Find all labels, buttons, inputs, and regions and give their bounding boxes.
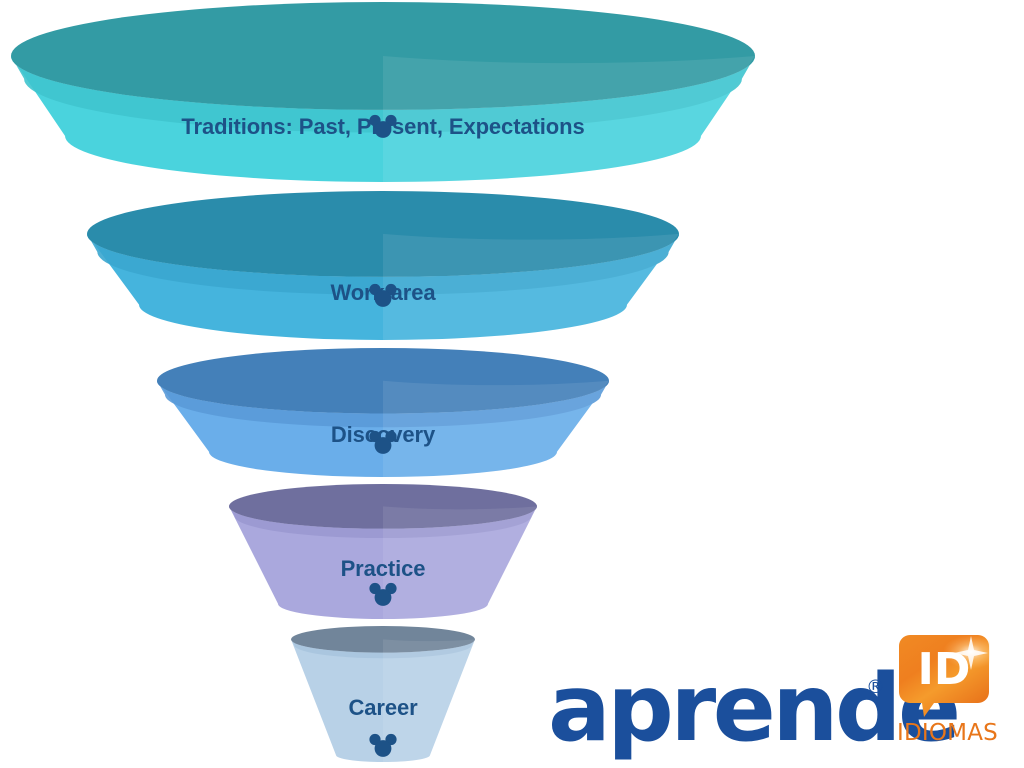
funnel-level-sheen — [383, 381, 609, 477]
funnel-level-2[interactable] — [87, 191, 679, 340]
funnel-level-sheen — [383, 234, 679, 340]
logo-subtitle: IDIOMAS — [897, 720, 993, 746]
mickey-mouse-head-icon — [368, 282, 398, 315]
mickey-mouse-head-icon — [368, 581, 398, 614]
funnel-diagram: Traditions: Past, Present, ExpectationsW… — [0, 0, 1024, 768]
funnel-level-sheen — [383, 506, 537, 619]
id-speech-bubble-icon: ID — [898, 634, 990, 718]
svg-text:ID: ID — [918, 644, 971, 695]
mickey-mouse-head-icon — [368, 733, 398, 766]
registered-trademark-icon: ® — [866, 676, 885, 698]
funnel-level-1[interactable] — [11, 2, 755, 182]
aprende-idiomas-logo: aprende ® ID IDIOMAS — [548, 632, 1018, 760]
mickey-mouse-head-icon — [368, 429, 398, 462]
mickey-mouse-head-icon — [368, 113, 398, 146]
funnel-level-sheen — [383, 56, 755, 182]
